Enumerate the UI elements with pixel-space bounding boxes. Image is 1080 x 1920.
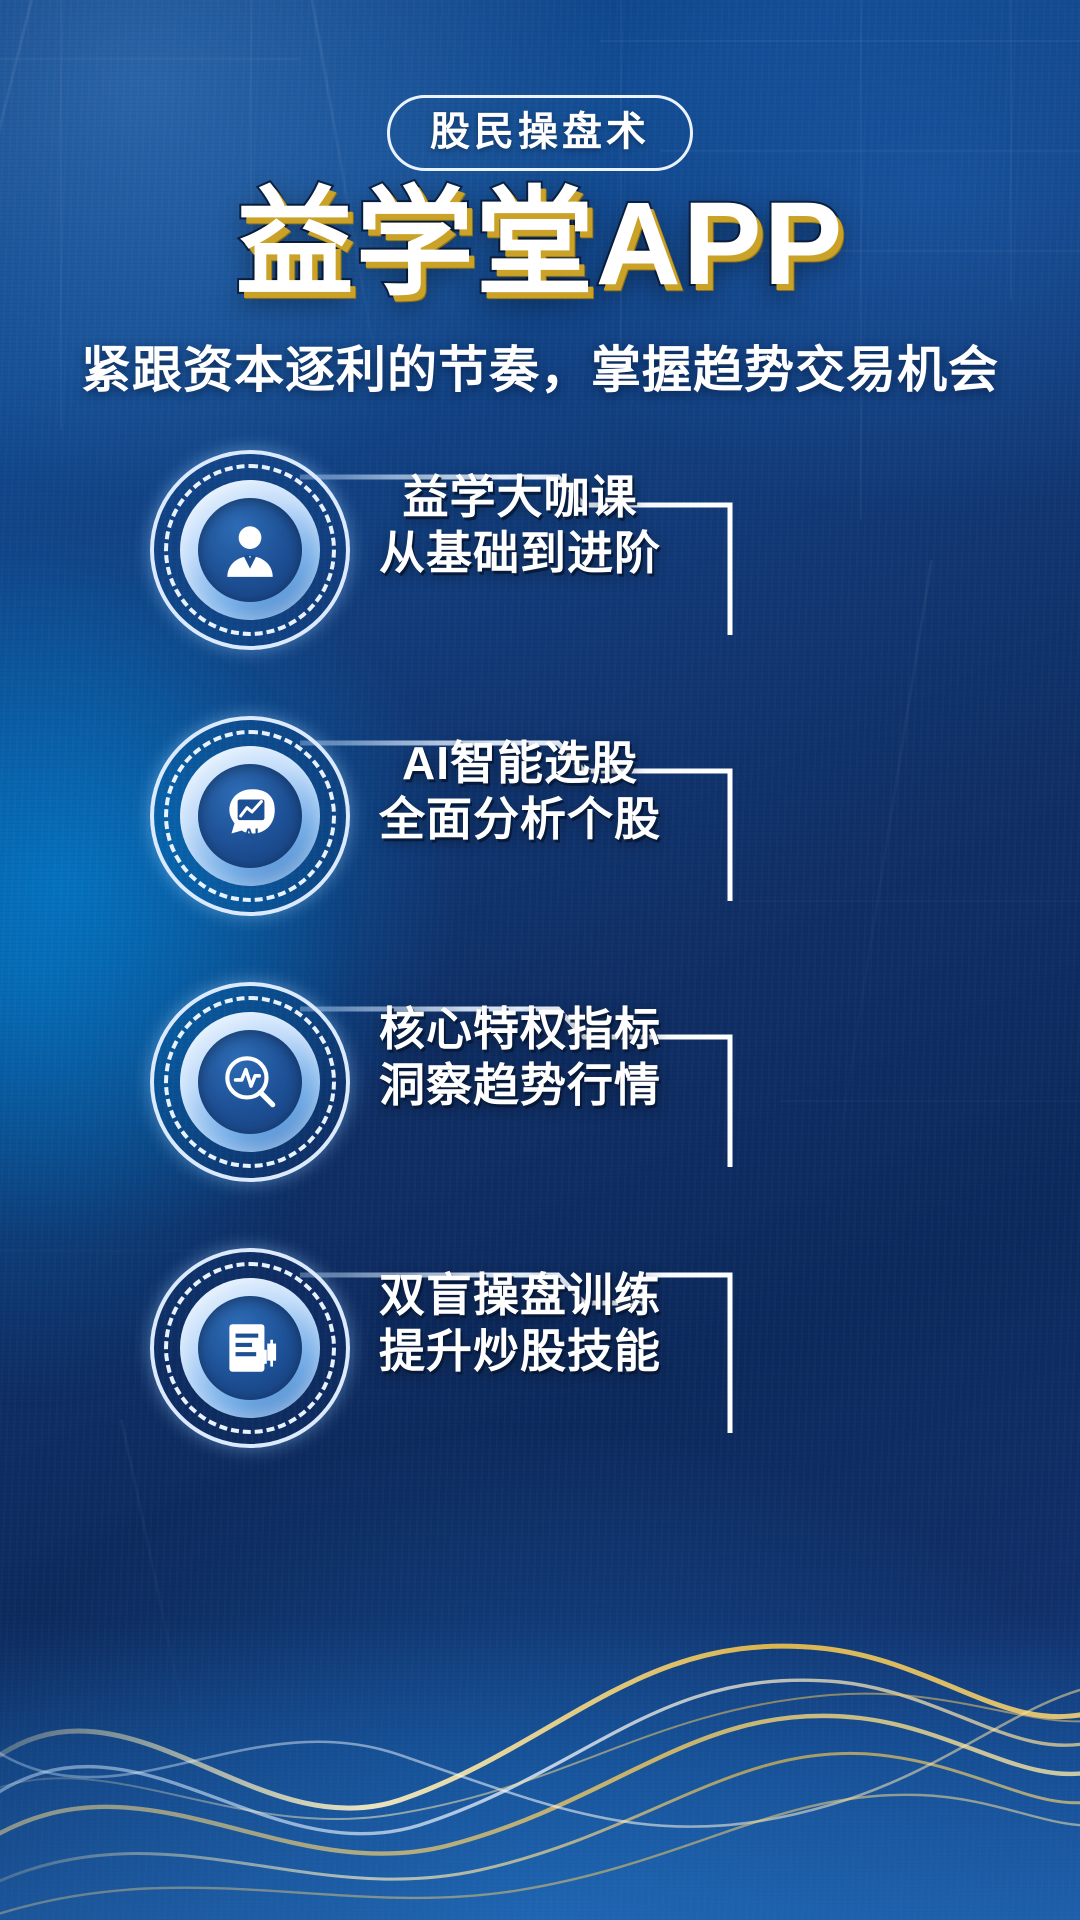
svg-text:AI: AI: [243, 827, 258, 844]
feature-line-1: 双盲操盘训练: [340, 1267, 700, 1323]
feature-line-2: 从基础到进阶: [340, 525, 700, 581]
feature-text: 益学大咖课 从基础到进阶: [340, 469, 700, 581]
poster-root: 股民操盘术 益学堂APP 紧跟资本逐利的节奏，掌握趋势交易机会: [0, 0, 1080, 1920]
orb-inner-disc: AI: [198, 764, 302, 868]
pulse-magnifier-icon: [217, 1049, 283, 1115]
feature-card[interactable]: 益学大咖课 从基础到进阶: [0, 455, 1080, 635]
feature-card-list: 益学大咖课 从基础到进阶: [0, 455, 1080, 1433]
person-avatar-icon: [217, 517, 283, 583]
bottom-light-waves: [0, 1590, 1080, 1920]
orb-inner-disc: [198, 1030, 302, 1134]
orb-inner-disc: [198, 498, 302, 602]
orb-inner-disc: [198, 1296, 302, 1400]
feature-line-1: AI智能选股: [340, 735, 700, 791]
feature-icon-badge: [150, 450, 350, 650]
page-title-wrap: 益学堂APP: [0, 185, 1080, 315]
feature-icon-badge: [150, 1248, 350, 1448]
feature-text: 核心特权指标 洞察趋势行情: [340, 1001, 700, 1113]
bottom-haze: [0, 1620, 1080, 1920]
feature-text: 双盲操盘训练 提升炒股技能: [340, 1267, 700, 1379]
feature-icon-badge: [150, 982, 350, 1182]
feature-line-2: 全面分析个股: [340, 791, 700, 847]
feature-card[interactable]: 双盲操盘训练 提升炒股技能: [0, 1253, 1080, 1433]
feature-line-1: 核心特权指标: [340, 1001, 700, 1057]
document-candlestick-icon: [217, 1315, 283, 1381]
feature-line-2: 提升炒股技能: [340, 1323, 700, 1379]
feature-card[interactable]: AI AI智能选股 全面分析个股: [0, 721, 1080, 901]
badge-tag: 股民操盘术: [387, 95, 693, 171]
page-subtitle: 紧跟资本逐利的节奏，掌握趋势交易机会: [0, 330, 1080, 402]
feature-line-1: 益学大咖课: [340, 469, 700, 525]
ai-brain-chart-icon: AI: [217, 783, 283, 849]
feature-card[interactable]: 核心特权指标 洞察趋势行情: [0, 987, 1080, 1167]
feature-text: AI智能选股 全面分析个股: [340, 735, 700, 847]
feature-line-2: 洞察趋势行情: [340, 1057, 700, 1113]
feature-icon-badge: AI: [150, 716, 350, 916]
page-title: 益学堂APP: [236, 185, 845, 303]
